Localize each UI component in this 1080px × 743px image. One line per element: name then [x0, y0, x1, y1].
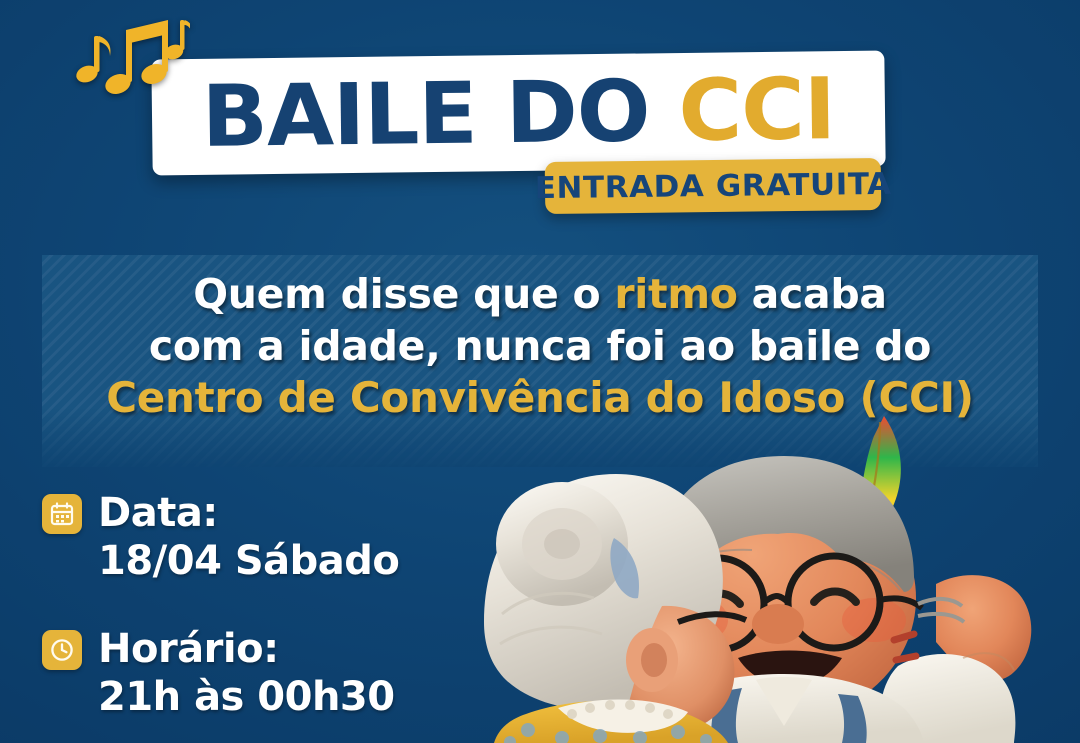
- slogan-line-1-highlight: ritmo: [614, 270, 737, 318]
- info-row-time: Horário: 21h às 00h30: [40, 626, 399, 722]
- date-label: Data:: [98, 490, 399, 536]
- info-texts-date: Data: 18/04 Sábado: [98, 490, 399, 586]
- slogan-line-1-post: acaba: [738, 270, 887, 318]
- slogan-line-3: Centro de Convivência do Idoso (CCI): [42, 372, 1038, 424]
- info-row-date: Data: 18/04 Sábado: [40, 490, 399, 586]
- time-label: Horário:: [98, 626, 399, 672]
- title-main-text: BAILE DO: [201, 62, 679, 167]
- title-highlight-text: CCI: [678, 60, 836, 161]
- slogan-block: Quem disse que o ritmo acaba com a idade…: [42, 268, 1038, 424]
- poster-canvas: BAILE DO CCI ENTRADA GRATUITA Quem disse…: [0, 0, 1080, 743]
- slogan-line-1: Quem disse que o ritmo acaba: [42, 268, 1038, 320]
- free-entry-badge: ENTRADA GRATUITA: [545, 158, 882, 214]
- time-value: 21h às 00h30: [98, 672, 399, 722]
- info-texts-time: Horário: 21h às 00h30: [98, 626, 399, 722]
- page-title: BAILE DO CCI: [201, 67, 835, 160]
- free-entry-badge-label: ENTRADA GRATUITA: [534, 166, 891, 205]
- event-info-block: Data: 18/04 Sábado Horário: 21h às 00h30: [40, 490, 399, 743]
- date-value: 18/04 Sábado: [98, 536, 399, 586]
- clock-icon: [42, 630, 82, 670]
- music-notes-icon: [70, 8, 190, 96]
- slogan-line-2: com a idade, nunca foi ao baile do: [42, 320, 1038, 372]
- calendar-icon: [42, 494, 82, 534]
- title-banner: BAILE DO CCI: [151, 51, 885, 176]
- slogan-line-1-pre: Quem disse que o: [193, 270, 614, 318]
